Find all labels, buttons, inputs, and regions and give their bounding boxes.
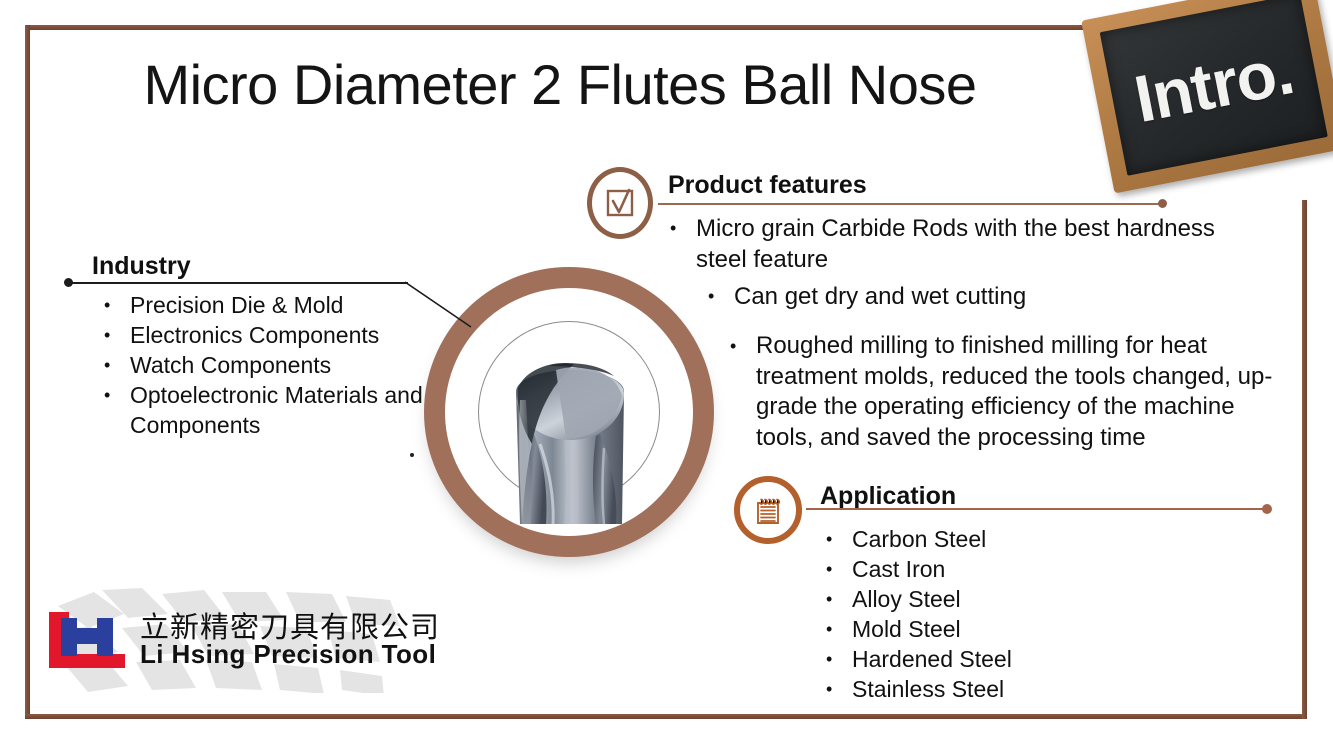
application-line-dot xyxy=(1262,504,1272,514)
frame-left-border xyxy=(25,25,30,719)
application-heading: Application xyxy=(820,482,956,511)
checkbox-check-glyph xyxy=(604,187,636,219)
application-list: Carbon Steel Cast Iron Alloy Steel Mold … xyxy=(818,524,1238,704)
blackboard-wooden-frame: Intro. xyxy=(1081,0,1333,194)
notepad-glyph xyxy=(751,493,785,527)
notepad-icon xyxy=(734,476,802,544)
list-item: Precision Die & Mold xyxy=(96,290,446,320)
industry-line-dot xyxy=(64,278,73,287)
product-features-list-2: Can get dry and wet cutting xyxy=(700,281,1280,312)
list-item: Carbon Steel xyxy=(818,524,1238,554)
application-underline xyxy=(806,508,1266,510)
frame-right-border xyxy=(1302,200,1307,719)
list-item: Cast Iron xyxy=(818,554,1238,584)
ball-nose-end-mill-photo xyxy=(504,348,636,528)
list-item: Micro grain Carbide Rods with the best h… xyxy=(662,213,1262,275)
logo-mark-icon xyxy=(47,610,127,670)
checkbox-check-icon xyxy=(587,167,653,239)
industry-list: Precision Die & Mold Electronics Compone… xyxy=(96,290,446,440)
list-item: Roughed milling to finished milling for … xyxy=(722,331,1292,453)
product-features-heading: Product features xyxy=(668,171,867,200)
blackboard-slate: Intro. xyxy=(1100,0,1328,176)
logo-english-name: Li Hsing Precision Tool xyxy=(140,639,436,670)
blackboard-label: Intro. xyxy=(1100,0,1328,176)
product-features-list-1: Micro grain Carbide Rods with the best h… xyxy=(662,213,1262,275)
industry-underline xyxy=(72,282,408,284)
list-item: Stainless Steel xyxy=(818,674,1238,704)
end-mill-illustration xyxy=(504,348,636,528)
list-item: Optoelectronic Materials and Components xyxy=(96,380,446,440)
company-logo: 立新精密刀具有限公司 Li Hsing Precision Tool xyxy=(40,588,440,693)
product-features-line-dot xyxy=(1158,199,1167,208)
decorative-dot xyxy=(410,453,414,457)
frame-bottom-border xyxy=(25,714,1307,719)
slide-canvas: Micro Diameter 2 Flutes Ball Nose Intro. xyxy=(0,0,1333,750)
list-item: Hardened Steel xyxy=(818,644,1238,674)
list-item: Can get dry and wet cutting xyxy=(700,281,1280,312)
list-item: Watch Components xyxy=(96,350,446,380)
list-item: Electronics Components xyxy=(96,320,446,350)
intro-blackboard: Intro. xyxy=(1081,0,1333,217)
list-item: Mold Steel xyxy=(818,614,1238,644)
product-features-list-3: Roughed milling to finished milling for … xyxy=(722,331,1292,453)
page-title: Micro Diameter 2 Flutes Ball Nose xyxy=(0,52,1120,117)
list-item: Alloy Steel xyxy=(818,584,1238,614)
industry-heading: Industry xyxy=(92,252,191,281)
product-features-underline xyxy=(658,203,1163,205)
